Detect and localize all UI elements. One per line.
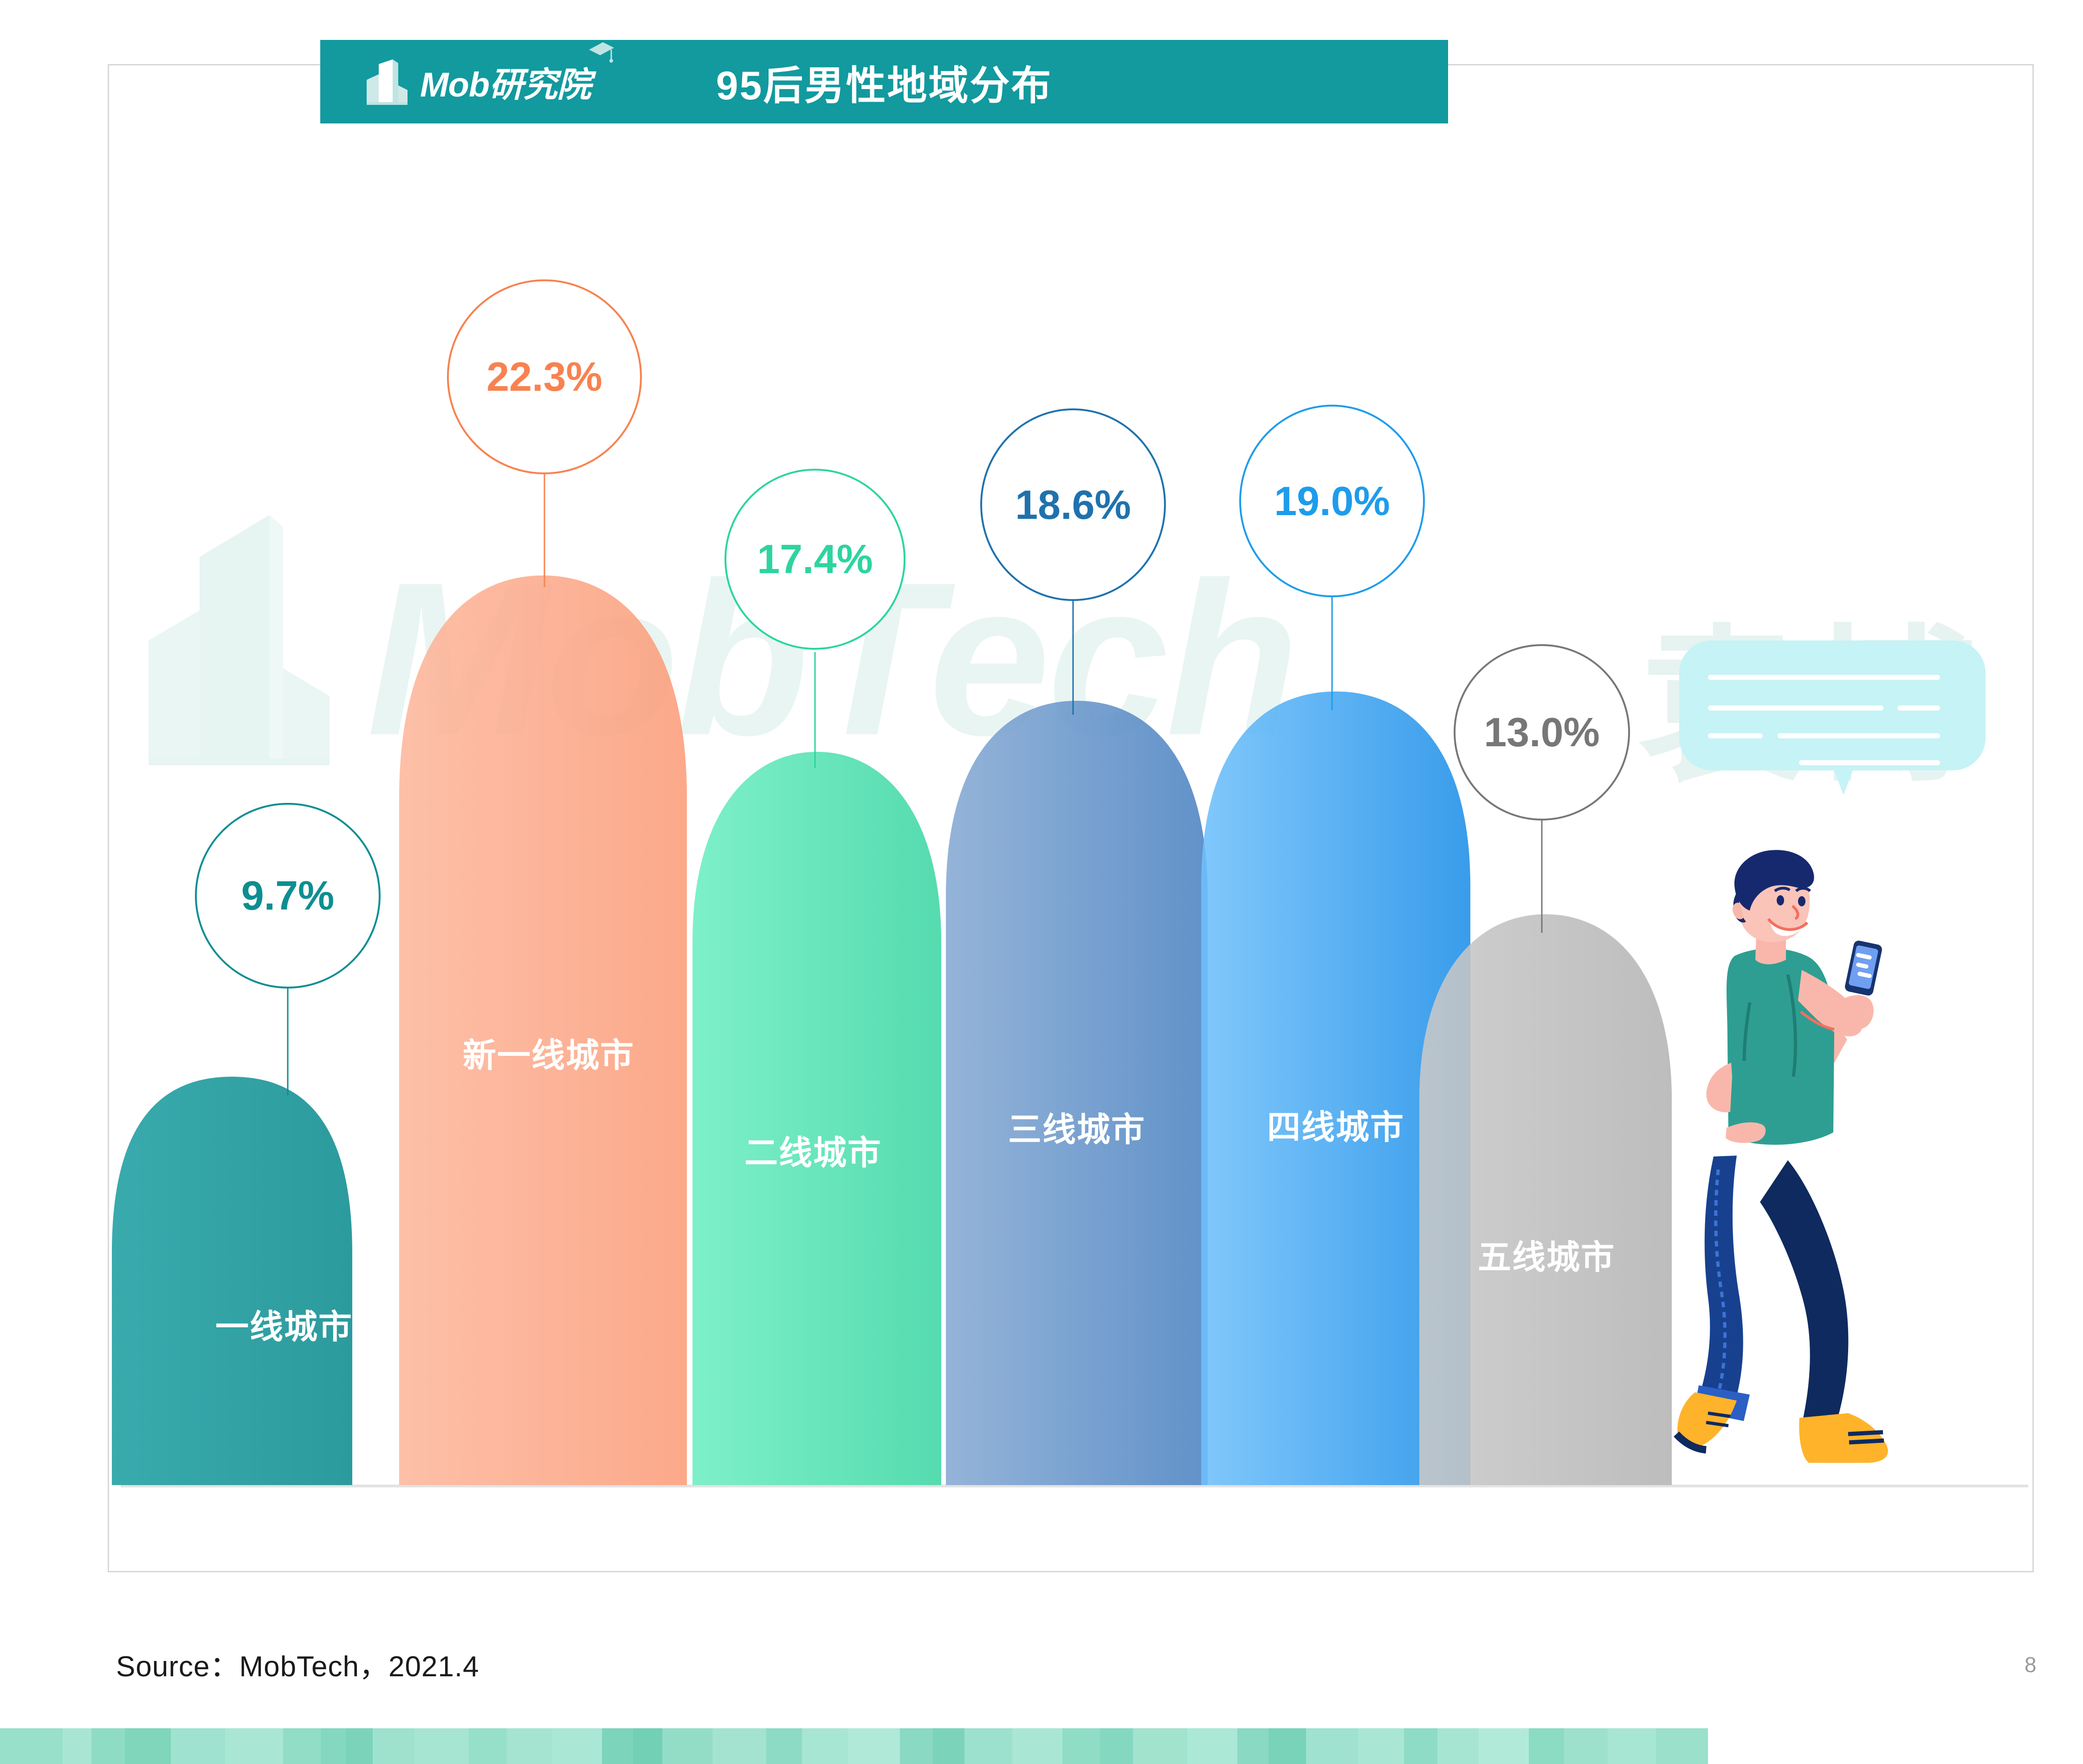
value-badge-5: 19.0% (1239, 405, 1425, 597)
bar-1-一线城市 (112, 1077, 352, 1485)
leader-line-5 (1332, 594, 1333, 710)
leader-line-6 (1541, 817, 1543, 933)
value-label-2: 22.3% (486, 353, 602, 401)
bar-category-label-1: 一线城市 (215, 1299, 353, 1348)
leader-line-4 (1073, 596, 1074, 715)
slide-header: Mob研究院 95后男性地域分布 (320, 40, 1448, 123)
bar-4-三线城市 (946, 701, 1208, 1485)
bar-category-label-4: 三线城市 (1008, 1102, 1145, 1151)
leader-line-3 (815, 652, 816, 768)
walking-man-with-phone-illustration (1649, 835, 1936, 1494)
source-note: Source：MobTech，2021.4 (116, 1643, 479, 1685)
value-label-5: 19.0% (1274, 478, 1390, 525)
bar-6-五线城市 (1419, 914, 1672, 1485)
value-badge-4: 18.6% (980, 408, 1166, 601)
value-badge-2: 22.3% (447, 279, 642, 474)
bar-category-label-6: 五线城市 (1478, 1230, 1615, 1279)
leader-line-1 (287, 979, 289, 1095)
value-label-6: 13.0% (1484, 709, 1600, 756)
value-badge-6: 13.0% (1454, 644, 1630, 821)
page-number: 8 (2025, 1652, 2037, 1677)
page-title: 95后男性地域分布 (320, 53, 1448, 111)
value-badge-3: 17.4% (725, 469, 906, 650)
bar-category-label-3: 二线城市 (744, 1125, 882, 1174)
value-label-4: 18.6% (1015, 481, 1131, 529)
value-label-1: 9.7% (241, 872, 335, 919)
bar-category-label-5: 四线城市 (1267, 1100, 1404, 1149)
leader-line-2 (544, 469, 545, 587)
bar-category-label-2: 新一线城市 (463, 1028, 634, 1077)
value-label-3: 17.4% (757, 536, 873, 583)
slide-canvas: MobTech 袁博 (0, 0, 2083, 1764)
bar-3-二线城市 (692, 752, 941, 1485)
footer-color-strip (0, 1728, 2083, 1764)
value-badge-1: 9.7% (195, 803, 381, 989)
